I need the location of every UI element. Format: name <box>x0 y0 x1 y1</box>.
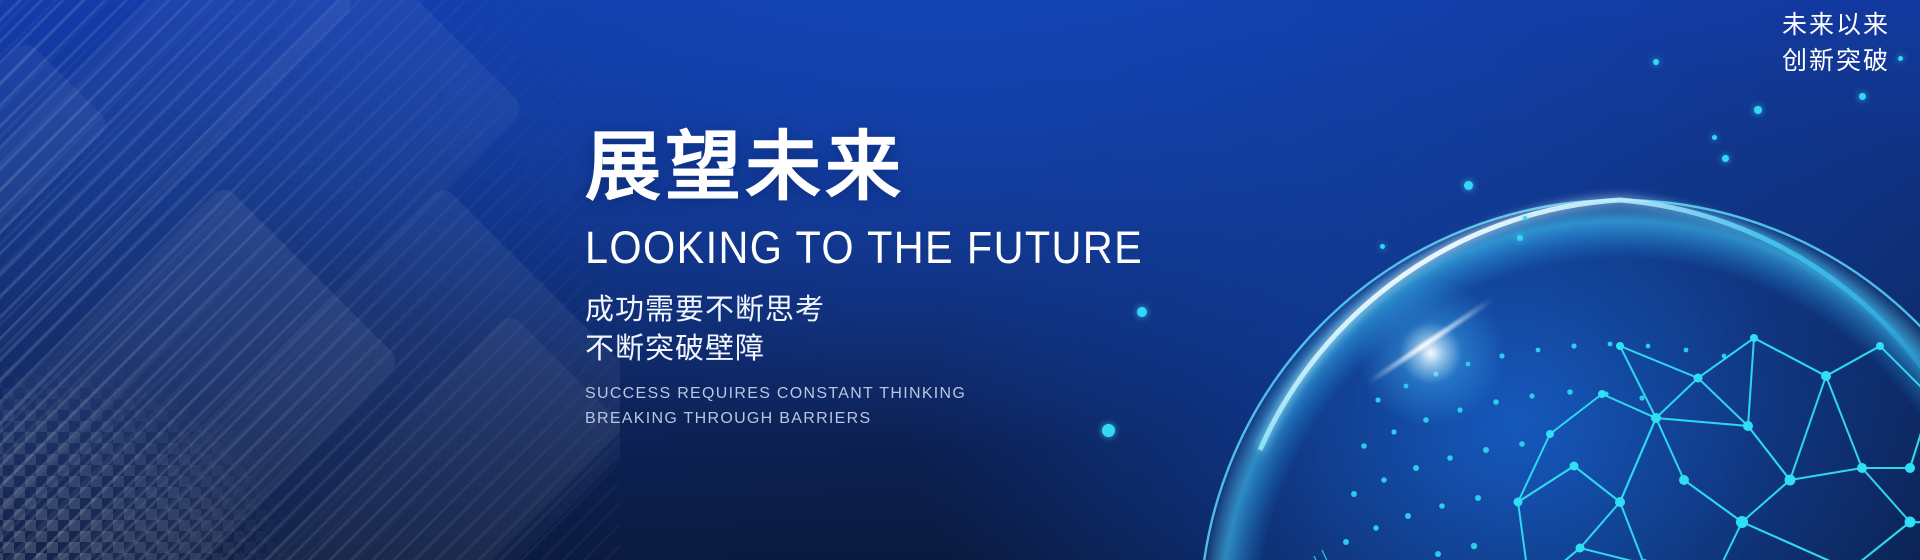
particle-dot <box>1754 106 1762 114</box>
hero-banner: 展望未来 LOOKING TO THE FUTURE 成功需要不断思考 不断突破… <box>0 0 1920 560</box>
particle-dot <box>1859 93 1866 100</box>
subtitle-english: SUCCESS REQUIRES CONSTANT THINKING BREAK… <box>585 381 1285 433</box>
diamond-dot-grid <box>0 300 330 560</box>
left-decoration-panel <box>0 0 620 560</box>
subtitle-chinese-line-1: 成功需要不断思考 <box>585 291 1285 330</box>
particle-dot <box>1898 56 1903 61</box>
page-title-english: LOOKING TO THE FUTURE <box>585 221 1229 275</box>
decor-slab <box>143 313 620 560</box>
particle-dot <box>1653 59 1659 65</box>
diagonal-stripes <box>0 0 620 560</box>
diagonal-stripes <box>0 0 620 560</box>
particle-dot <box>1380 244 1385 249</box>
decor-slab <box>0 0 356 401</box>
lens-flare-highlight <box>1346 268 1516 438</box>
subtitle-english-line-2: BREAKING THROUGH BARRIERS <box>585 406 1285 432</box>
lens-flare-streak <box>1367 296 1494 384</box>
particle-dot <box>1523 216 1527 220</box>
decor-slab <box>0 39 111 421</box>
corner-tagline-line-1: 未来以来 <box>1782 8 1890 44</box>
subtitle-chinese: 成功需要不断思考 不断突破壁障 <box>585 291 1285 369</box>
subtitle-english-line-1: SUCCESS REQUIRES CONSTANT THINKING <box>585 381 1285 407</box>
corner-tagline-line-2: 创新突破 <box>1782 44 1890 80</box>
headline-block: 展望未来 LOOKING TO THE FUTURE 成功需要不断思考 不断突破… <box>585 128 1285 432</box>
corner-tagline: 未来以来 创新突破 <box>1782 8 1890 79</box>
subtitle-chinese-line-2: 不断突破壁障 <box>585 330 1285 369</box>
particle-dot <box>1712 135 1717 140</box>
particle-dot <box>1464 181 1473 190</box>
decor-slab <box>5 185 620 560</box>
page-title: 展望未来 <box>585 128 1285 208</box>
particle-dot <box>1517 235 1523 241</box>
particle-dot <box>1722 155 1729 162</box>
decor-slab <box>0 0 526 560</box>
decor-slab <box>0 184 401 560</box>
